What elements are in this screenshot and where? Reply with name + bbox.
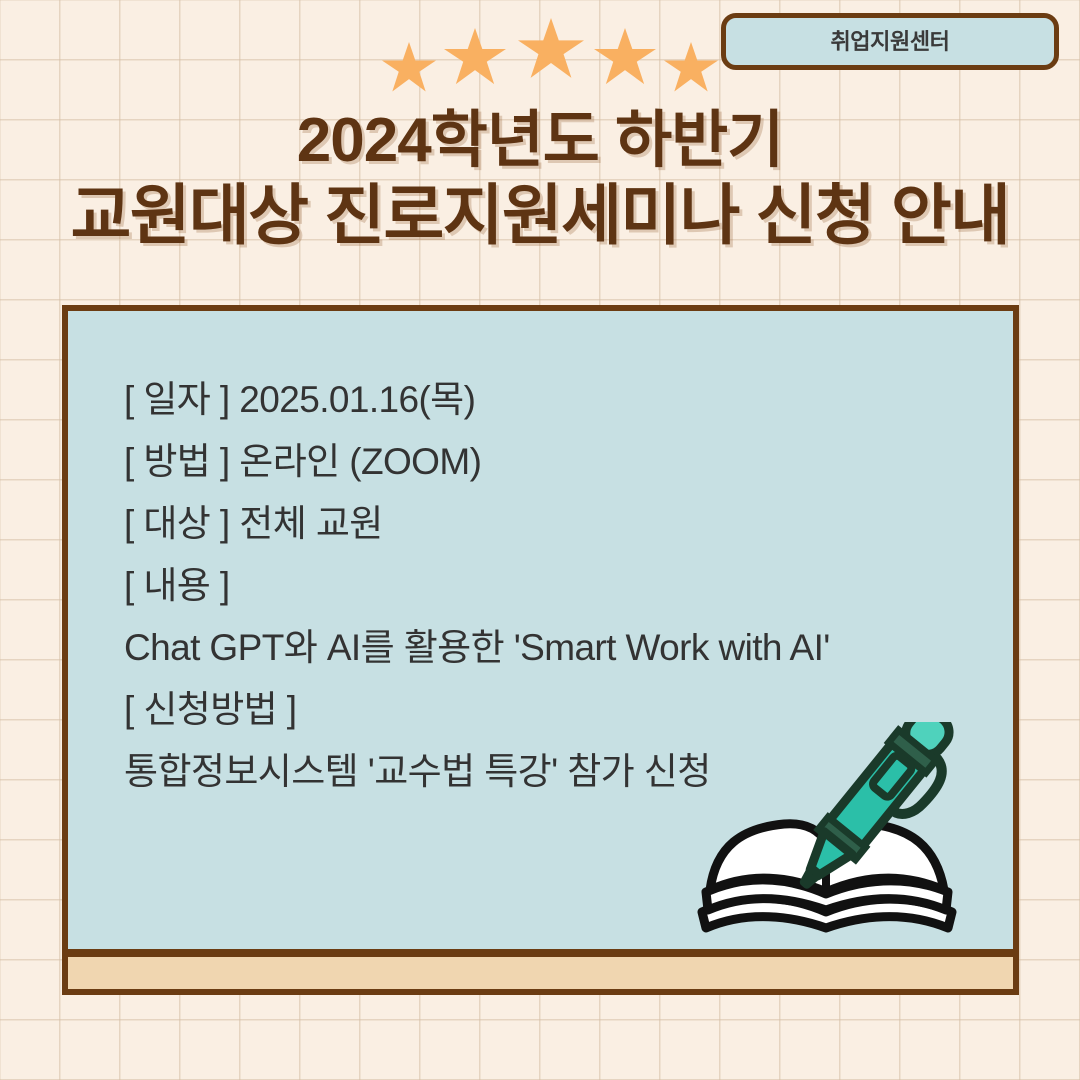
detail-line-date: [ 일자 ] 2025.01.16(목) xyxy=(124,369,993,431)
poster-canvas: 취업지원센터 2024학년도 하반기 교원대상 진로지원세미나 신청 안내 [ … xyxy=(0,0,1080,1080)
detail-line-content-body: Chat GPT와 AI를 활용한 'Smart Work with AI' xyxy=(124,617,993,679)
page-title-line-2: 교원대상 진로지원세미나 신청 안내 xyxy=(0,178,1080,252)
detail-line-audience: [ 대상 ] 전체 교원 xyxy=(124,493,993,555)
organization-badge: 취업지원센터 xyxy=(721,13,1059,70)
page-title-line-1: 2024학년도 하반기 xyxy=(0,104,1080,178)
star-icon xyxy=(664,42,718,94)
star-row xyxy=(382,18,702,88)
detail-line-content-heading: [ 내용 ] xyxy=(124,555,993,617)
star-icon xyxy=(444,28,506,87)
page-title: 2024학년도 하반기 교원대상 진로지원세미나 신청 안내 xyxy=(0,104,1080,252)
detail-line-method: [ 방법 ] 온라인 (ZOOM) xyxy=(124,431,993,493)
star-icon xyxy=(594,28,656,87)
open-book-with-pen-illustration xyxy=(690,722,970,962)
organization-badge-label: 취업지원센터 xyxy=(830,31,949,53)
star-icon xyxy=(518,18,584,81)
star-icon xyxy=(382,42,436,94)
